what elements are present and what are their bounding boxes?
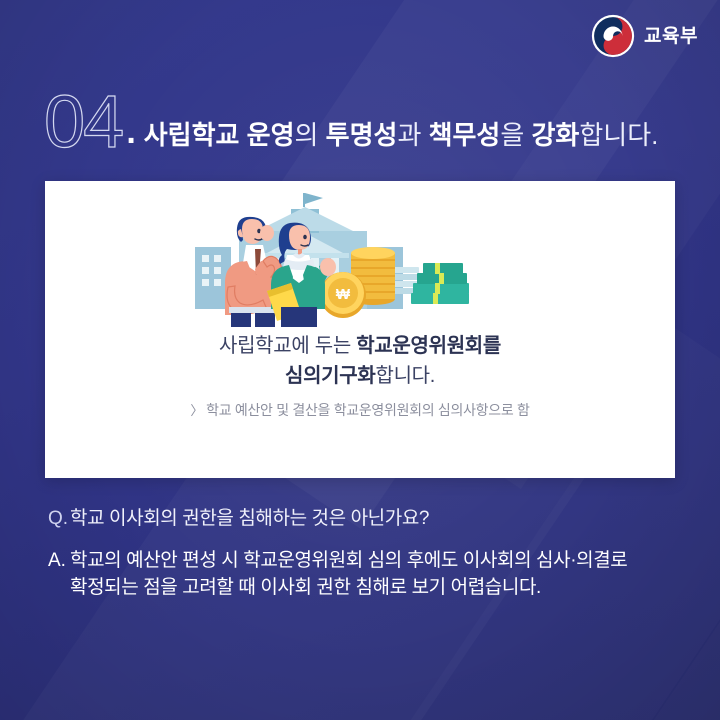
title-seg-1: 의: [295, 120, 326, 150]
title-seg-0: 사립학교 운영: [144, 120, 295, 150]
title-seg-6: 강화: [532, 120, 580, 150]
card-line-2-bold: 심의기구화: [285, 365, 376, 387]
won-coin: ₩: [320, 272, 366, 318]
section-number: 04: [44, 92, 124, 153]
title-seg-3: 과: [397, 120, 428, 150]
ministry-logo: 교육부: [591, 14, 698, 58]
card-subcaption-text: 학교 예산안 및 결산을 학교운영위원회의 심의사항으로 함: [206, 402, 529, 418]
title-seg-4: 책무성: [429, 120, 501, 150]
card-text: 사립학교에 두는 학교운영위원회를 심의기구화합니다. 〉학교 예산안 및 결산…: [45, 331, 675, 420]
title-text: 사립학교 운영의 투명성과 책무성을 강화합니다.: [144, 121, 659, 153]
answer-text: 학교의 예산안 편성 시 학교운영위원회 심의 후에도 이사회의 심사·의결로 …: [70, 547, 627, 602]
person-male: [225, 217, 282, 327]
chevron-right-icon: 〉: [190, 403, 206, 418]
card-line-1: 사립학교에 두는 학교운영위원회를: [61, 331, 659, 361]
title-seg-5: 을: [500, 120, 531, 150]
card-line-1-bold: 학교운영위원회를: [356, 335, 501, 357]
card-subcaption: 〉학교 예산안 및 결산을 학교운영위원회의 심의사항으로 함: [61, 400, 659, 420]
content-card: ₩: [45, 181, 675, 478]
banknote-stack: [411, 263, 469, 304]
page-title: 04 . 사립학교 운영의 투명성과 책무성을 강화합니다.: [44, 92, 704, 153]
ministry-name: 교육부: [644, 27, 698, 46]
title-seg-2: 투명성: [326, 120, 398, 150]
question-text: 학교 이사회의 권한을 침해하는 것은 아닌가요?: [70, 505, 429, 533]
qa-section: Q. 학교 이사회의 권한을 침해하는 것은 아닌가요? A. 학교의 예산안 …: [48, 505, 688, 616]
taegeuk-icon: [591, 14, 635, 58]
answer-marker: A.: [48, 547, 70, 575]
male-hand: [260, 225, 274, 241]
female-hand: [320, 258, 336, 276]
svg-text:₩: ₩: [336, 286, 351, 303]
infographic-slide: 교육부 04 . 사립학교 운영의 투명성과 책무성을 강화합니다.: [0, 0, 720, 720]
card-line-2: 심의기구화합니다.: [61, 361, 659, 391]
card-line-1-plain: 사립학교에 두는: [219, 335, 356, 357]
section-number-dot: .: [124, 115, 143, 153]
illustration: ₩: [45, 181, 675, 331]
qa-answer-row: A. 학교의 예산안 편성 시 학교운영위원회 심의 후에도 이사회의 심사·의…: [48, 547, 688, 602]
question-marker: Q.: [48, 505, 70, 533]
answer-line-2: 확정되는 점을 고려할 때 이사회 권한 침해로 보기 어렵습니다.: [70, 577, 541, 598]
qa-question-row: Q. 학교 이사회의 권한을 침해하는 것은 아닌가요?: [48, 505, 688, 533]
flag-icon: [305, 193, 323, 204]
card-line-2-plain: 합니다.: [375, 365, 435, 387]
school-budget-illustration: ₩: [195, 187, 525, 327]
answer-line-1: 학교의 예산안 편성 시 학교운영위원회 심의 후에도 이사회의 심사·의결로: [70, 550, 627, 571]
title-seg-7: 합니다.: [579, 120, 658, 150]
